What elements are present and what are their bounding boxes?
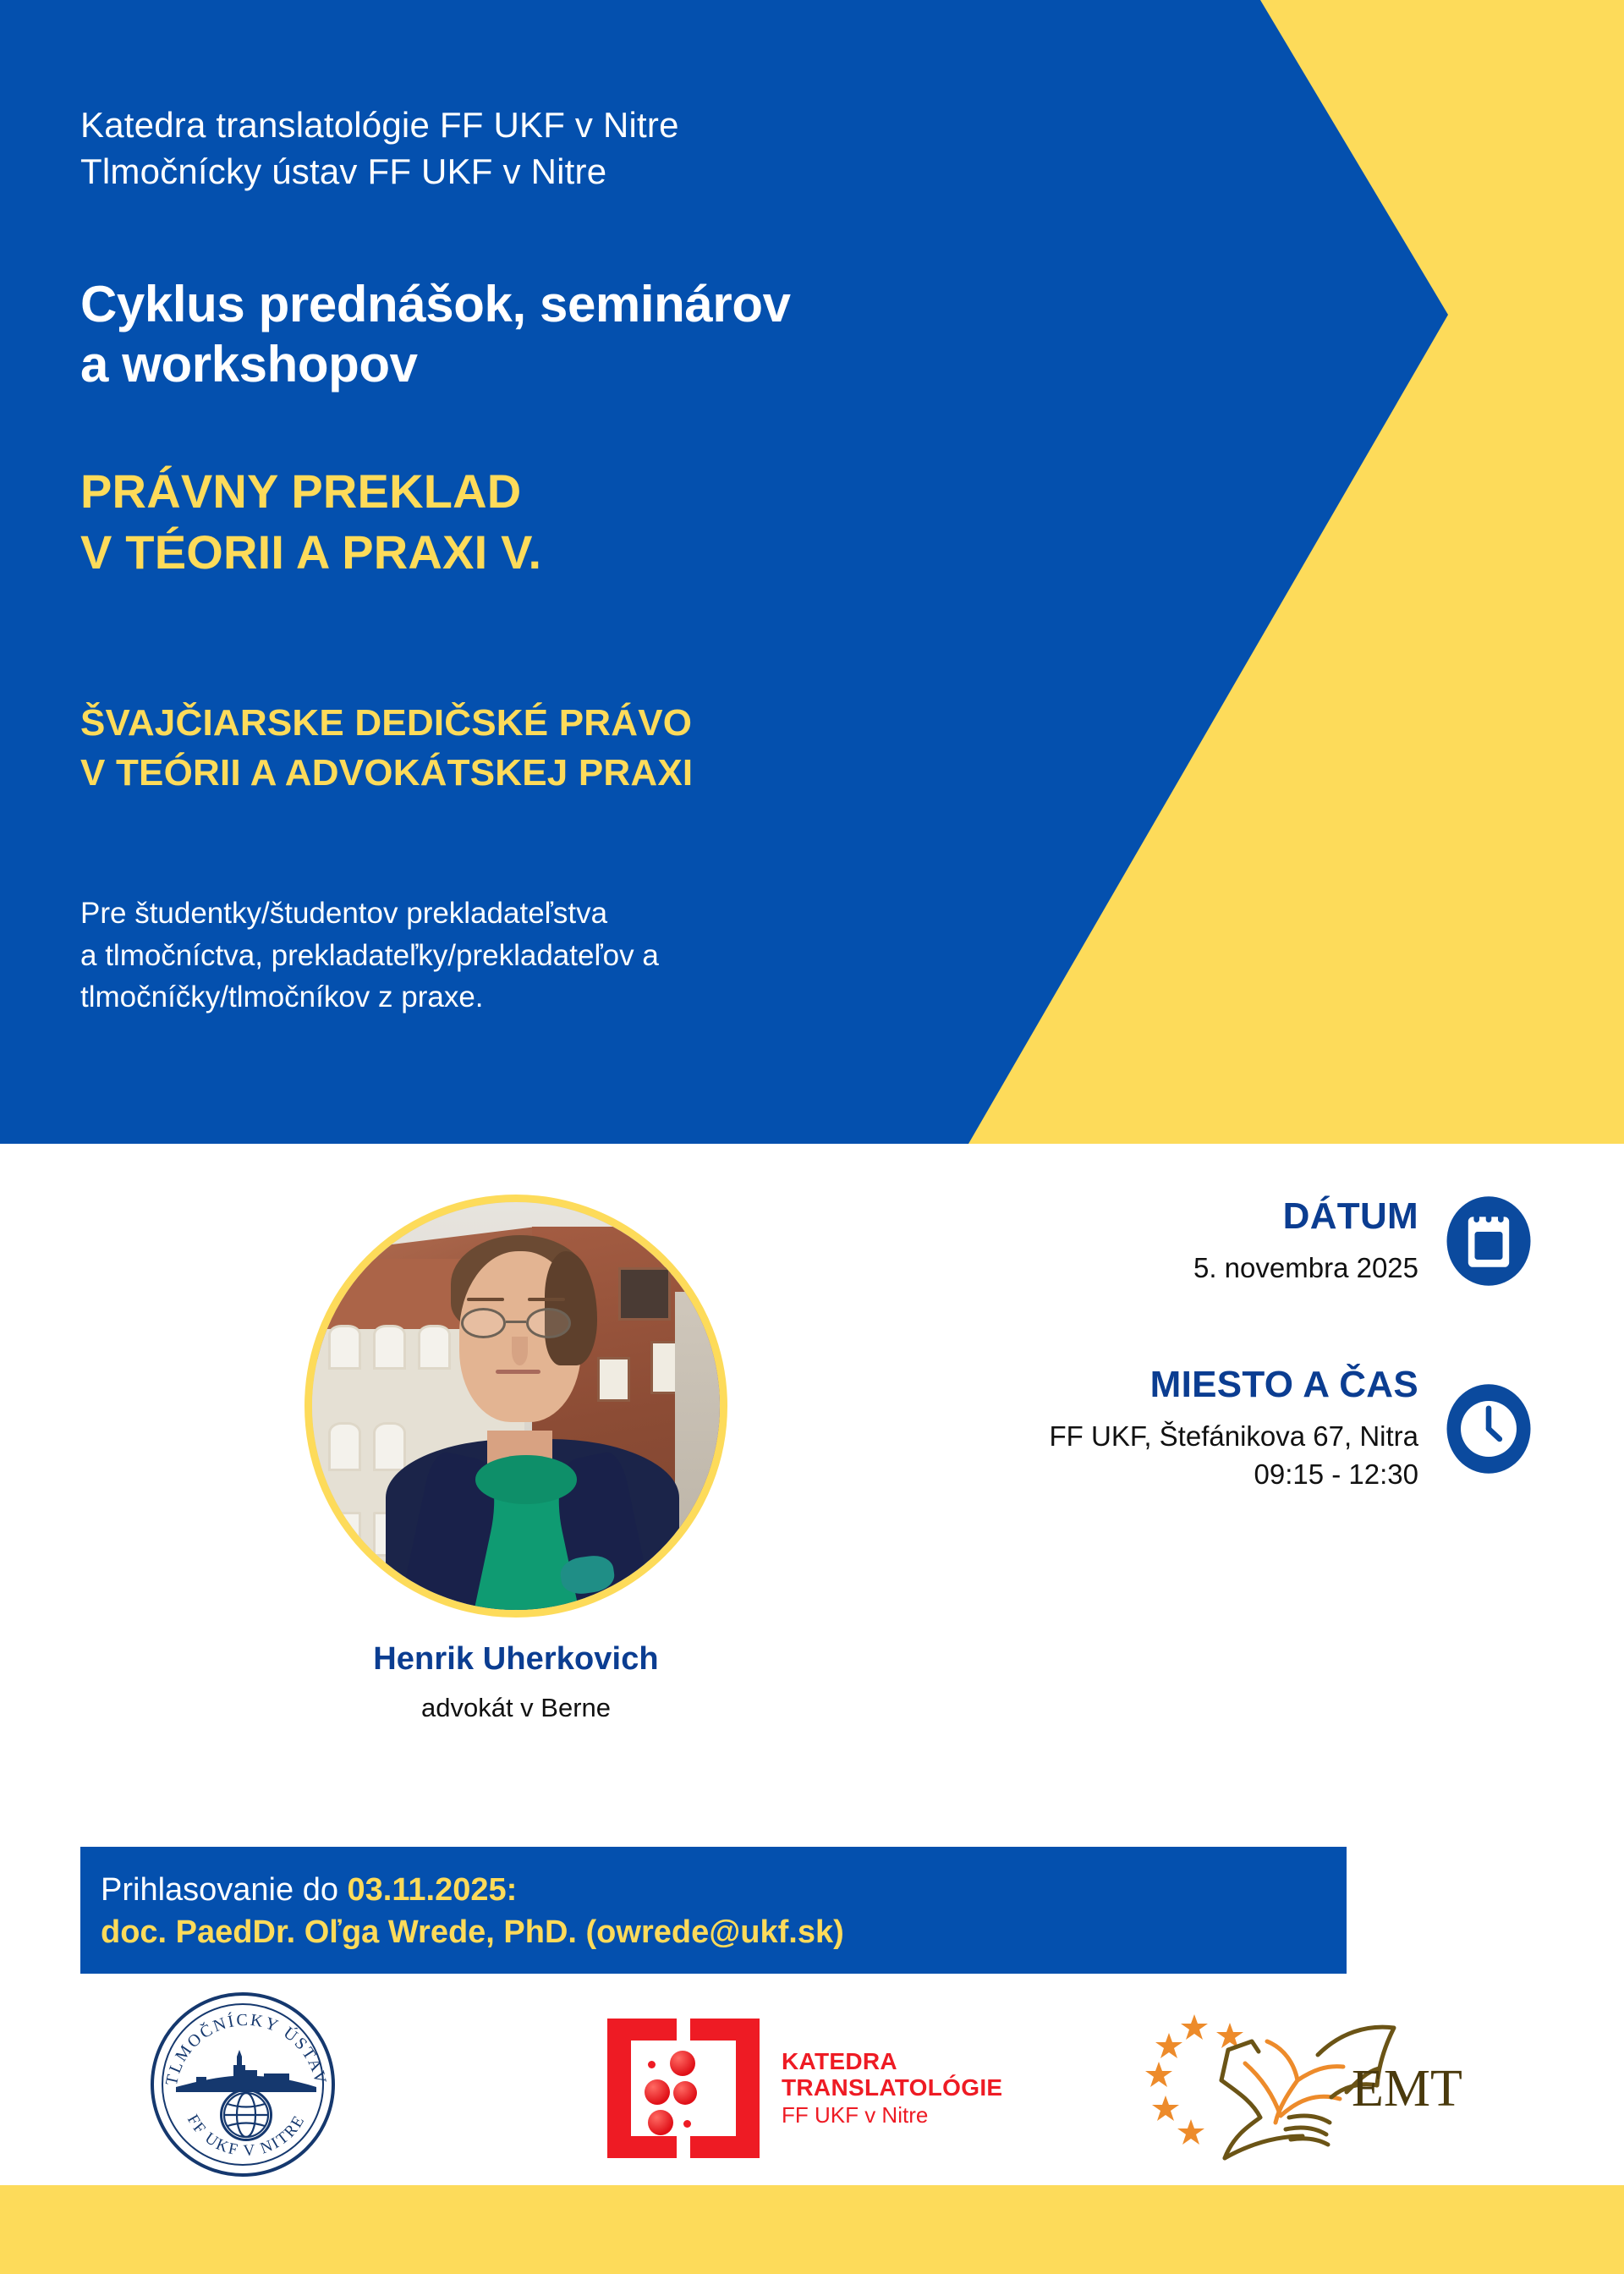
nitra-castle-silhouette [176,2048,316,2092]
main-heading: Cyklus prednášok, seminárov a workshopov [80,275,1180,395]
eu-stars [1145,2014,1243,2145]
series-title-line-2: V TÉORII A PRAXI V. [80,522,1180,583]
tlmocnicky-ustav-seal-logo: TLMOČNÍCKY ÚSTAV FF UKF V NITRE [151,1992,345,2183]
registration-contact: doc. PaedDr. Oľga Wrede, PhD. (owrede@uk… [101,1911,1347,1953]
katedra-line-3: FF UKF v Nitre [782,2103,1002,2128]
bottom-yellow-bar [0,2185,1624,2274]
audience-line-2: a tlmočníctva, prekladateľky/prekladateľ… [80,935,994,977]
katedra-line-2: TRANSLATOLÓGIE [782,2074,1002,2101]
event-info-block: DÁTUM 5. novembra 2025 MIESTO A ČAS FF U… [859,1195,1535,1493]
katedra-translatologie-logo: KATEDRA TRANSLATOLÓGIE FF UKF v Nitre [607,2016,1005,2160]
speaker-name: Henrik Uherkovich [279,1641,753,1678]
speaker-block: Henrik Uherkovich advokát v Berne [279,1195,753,1723]
date-value: 5. novembra 2025 [1193,1250,1418,1288]
katedra-line-1: KATEDRA [782,2048,1002,2074]
time-value: 09:15 - 12:30 [1050,1456,1419,1494]
date-row: DÁTUM 5. novembra 2025 [859,1195,1535,1288]
registration-deadline: 03.11.2025: [348,1872,518,1908]
calendar-icon [1442,1195,1535,1288]
dept-line-1: Katedra translatológie FF UKF v Nitre [80,102,1095,148]
series-title: PRÁVNY PREKLAD V TÉORII A PRAXI V. [80,461,1180,582]
series-title-line-1: PRÁVNY PREKLAD [80,461,1180,522]
main-heading-line-2: a workshopov [80,335,1180,395]
audience-line-3: tlmočníčky/tlmočníkov z praxe. [80,976,994,1019]
main-heading-line-1: Cyklus prednášok, seminárov [80,275,1180,335]
place-value: FF UKF, Štefánikova 67, Nitra [1050,1418,1419,1456]
audience-paragraph: Pre študentky/študentov prekladateľstva … [80,893,994,1019]
date-label: DÁTUM [1193,1195,1418,1238]
registration-line-1: Prihlasovanie do 03.11.2025: [101,1869,1347,1911]
emt-logo: EMT [1140,1999,1470,2177]
bracket-mark-icon [607,2019,760,2158]
place-label: MIESTO A ČAS [1050,1364,1419,1406]
top-banner: Katedra translatológie FF UKF v Nitre Tl… [0,0,1624,1144]
details-section: Henrik Uherkovich advokát v Berne DÁTUM … [0,1144,1624,1821]
topic-title-line-2: V TEÓRII A ADVOKÁTSKEJ PRAXI [80,748,1180,798]
emt-wordmark: EMT [1352,2060,1462,2117]
dept-line-2: Tlmočnícky ústav FF UKF v Nitre [80,148,1095,195]
speaker-role: advokát v Berne [279,1693,753,1723]
registration-bar: Prihlasovanie do 03.11.2025: doc. PaedDr… [80,1847,1347,1974]
audience-line-1: Pre študentky/študentov prekladateľstva [80,893,994,935]
topic-title-line-1: ŠVAJČIARSKE DEDIČSKÉ PRÁVO [80,698,1180,748]
speaker-avatar [304,1195,727,1618]
speaker-photo [279,1195,753,1618]
clock-icon [1442,1382,1535,1475]
logo-row: TLMOČNÍCKY ÚSTAV FF UKF V NITRE [0,1992,1624,2183]
topic-title: ŠVAJČIARSKE DEDIČSKÉ PRÁVO V TEÓRII A AD… [80,698,1180,799]
place-time-row: MIESTO A ČAS FF UKF, Štefánikova 67, Nit… [859,1364,1535,1493]
department-lines: Katedra translatológie FF UKF v Nitre Tl… [80,102,1095,195]
registration-prefix: Prihlasovanie do [101,1872,348,1908]
globe-icon [220,2089,272,2141]
